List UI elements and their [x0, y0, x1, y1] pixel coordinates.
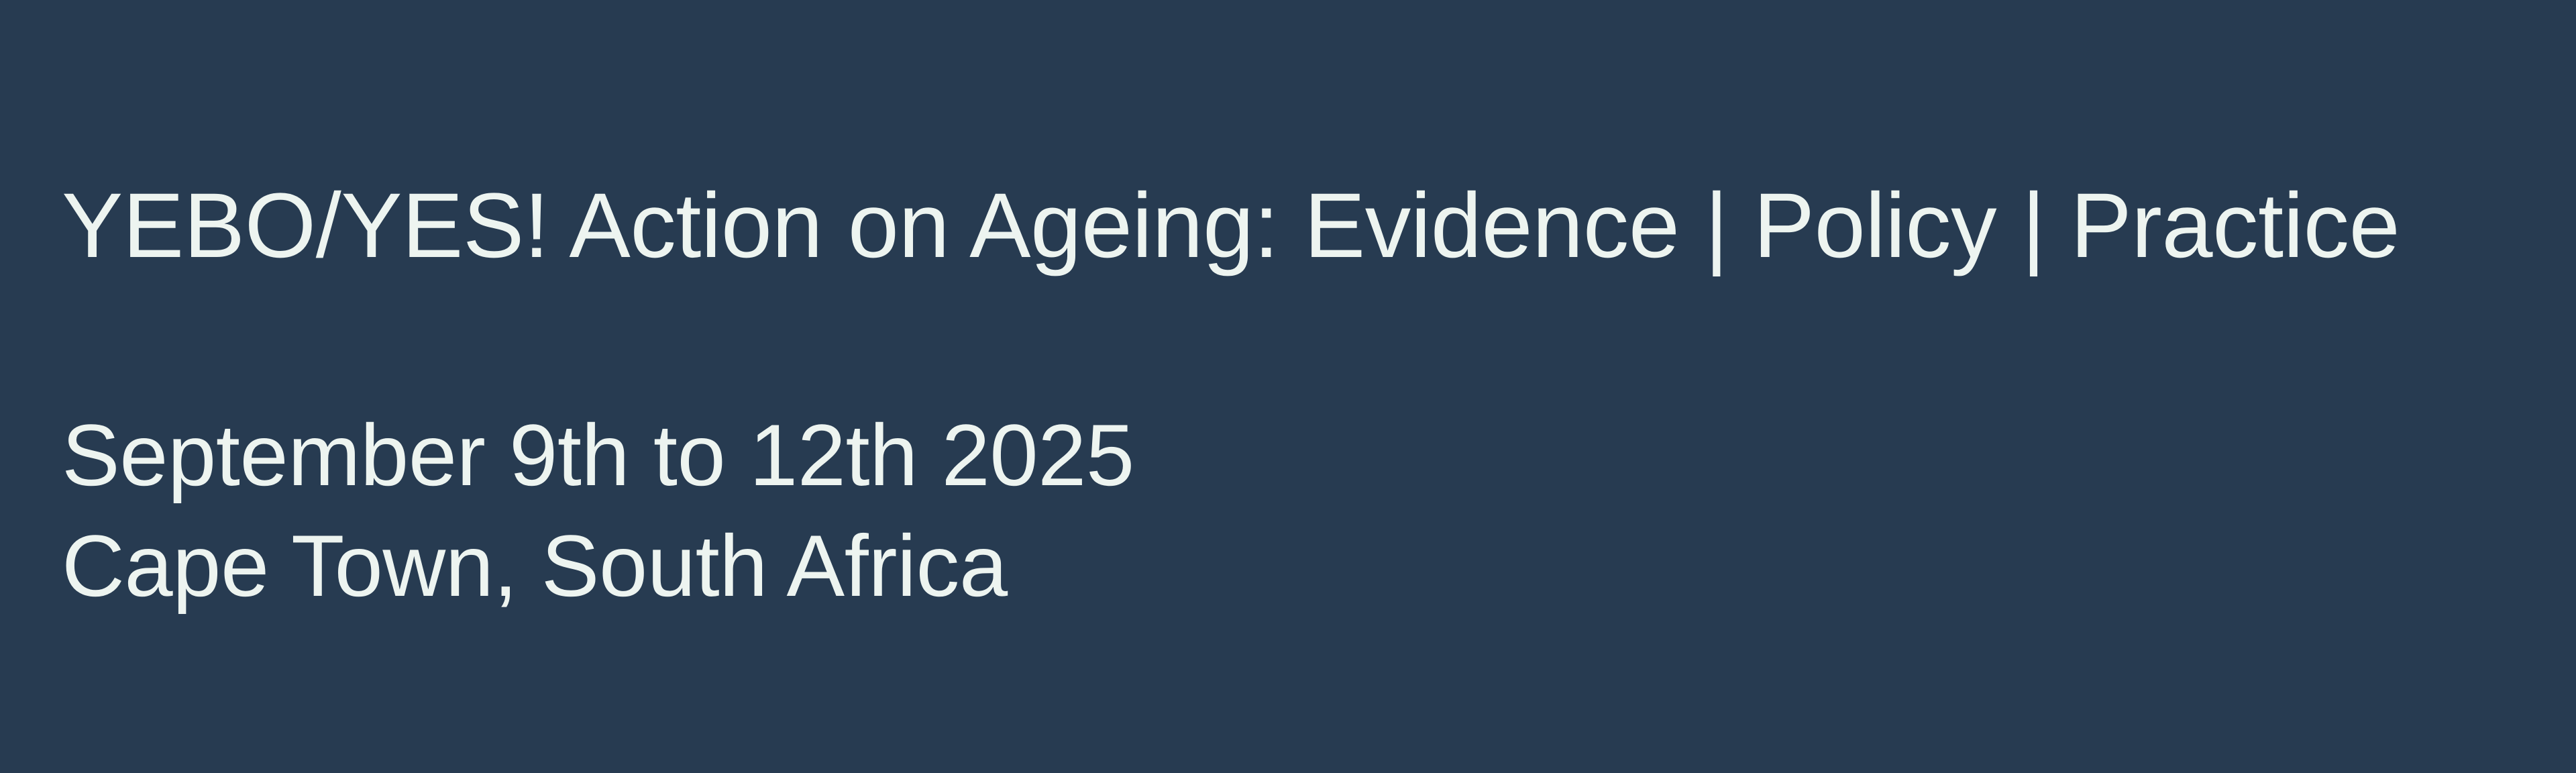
event-title: YEBO/YES! Action on Ageing: Evidence | P…: [62, 180, 2400, 272]
banner-content: YEBO/YES! Action on Ageing: Evidence | P…: [62, 0, 2544, 773]
event-meta-block: September 9th to 12th 2025 Cape Town, So…: [62, 400, 1134, 621]
event-dates: September 9th to 12th 2025: [62, 400, 1134, 511]
event-location: Cape Town, South Africa: [62, 511, 1134, 621]
conference-banner: YEBO/YES! Action on Ageing: Evidence | P…: [0, 0, 2576, 773]
